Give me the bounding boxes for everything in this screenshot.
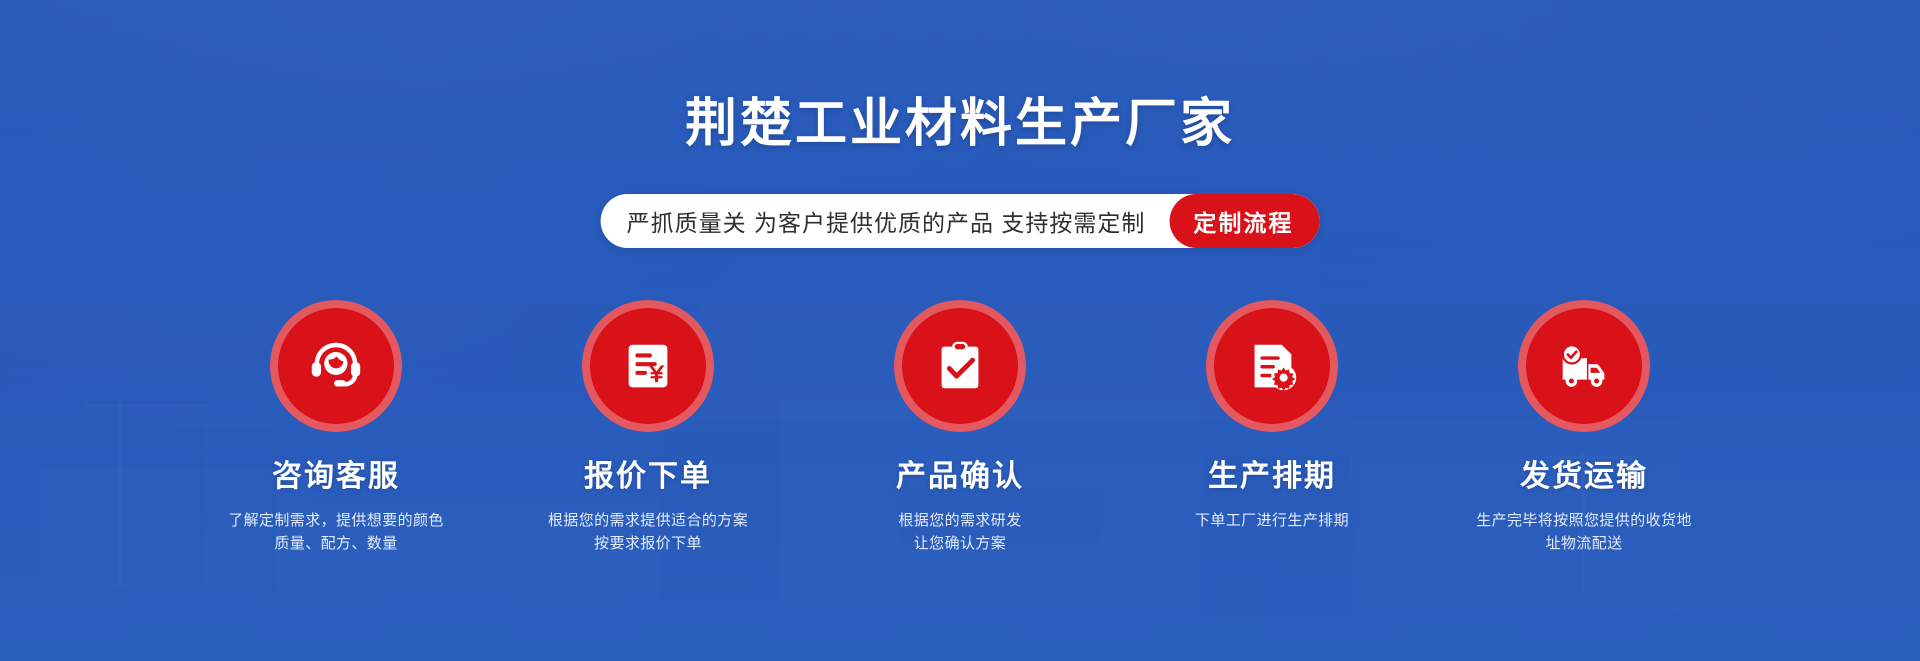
step-title-5: 发货运输 <box>1520 460 1648 495</box>
step-title-2: 报价下单 <box>584 460 712 495</box>
step-icon-badge-3[interactable] <box>894 300 1026 432</box>
step-icon-badge-4[interactable] <box>1206 300 1338 432</box>
step-desc-5: 生产完毕将按照您提供的收货地 址物流配送 <box>1476 509 1692 556</box>
delivery-truck-check-icon <box>1553 335 1615 397</box>
process-steps: 咨询客服 了解定制需求，提供想要的颜色 质量、配方、数量 <box>0 300 1920 555</box>
page-title: 荆楚工业材料生产厂家 <box>0 96 1920 153</box>
invoice-yuan-icon <box>617 335 679 397</box>
step-desc-3: 根据您的需求研发 让您确认方案 <box>898 509 1021 556</box>
step-desc-line-1: 了解定制需求，提供想要的颜色 <box>228 509 444 532</box>
step-desc-4: 下单工厂进行生产排期 <box>1195 509 1349 532</box>
process-step-2[interactable]: 报价下单 根据您的需求提供适合的方案 按要求报价下单 <box>518 300 778 555</box>
tagline-text: 严抓质量关 为客户提供优质的产品 支持按需定制 <box>627 204 1170 238</box>
process-step-1[interactable]: 咨询客服 了解定制需求，提供想要的颜色 质量、配方、数量 <box>206 300 466 555</box>
process-step-4[interactable]: 生产排期 下单工厂进行生产排期 <box>1142 300 1402 532</box>
tagline-bar: 严抓质量关 为客户提供优质的产品 支持按需定制 定制流程 <box>601 194 1320 248</box>
step-desc-line-1: 生产完毕将按照您提供的收货地 <box>1476 509 1692 532</box>
document-gear-icon <box>1241 335 1303 397</box>
step-icon-badge-1[interactable] <box>270 300 402 432</box>
step-icon-badge-5[interactable] <box>1518 300 1650 432</box>
step-desc-line-1: 下单工厂进行生产排期 <box>1195 509 1349 532</box>
process-step-3[interactable]: 产品确认 根据您的需求研发 让您确认方案 <box>830 300 1090 555</box>
check-badge-sub-icon <box>1562 344 1582 364</box>
step-icon-badge-2[interactable] <box>582 300 714 432</box>
promo-banner: 荆楚工业材料生产厂家 严抓质量关 为客户提供优质的产品 支持按需定制 定制流程 <box>0 0 1920 661</box>
process-step-5[interactable]: 发货运输 生产完毕将按照您提供的收货地 址物流配送 <box>1454 300 1714 555</box>
step-desc-line-2: 按要求报价下单 <box>548 532 748 555</box>
step-desc-line-1: 根据您的需求研发 <box>898 509 1021 532</box>
step-title-3: 产品确认 <box>896 460 1024 495</box>
step-desc-line-1: 根据您的需求提供适合的方案 <box>548 509 748 532</box>
step-desc-2: 根据您的需求提供适合的方案 按要求报价下单 <box>548 509 748 556</box>
step-desc-line-2: 址物流配送 <box>1476 532 1692 555</box>
step-desc-1: 了解定制需求，提供想要的颜色 质量、配方、数量 <box>228 509 444 556</box>
clipboard-check-icon <box>929 335 991 397</box>
step-title-4: 生产排期 <box>1208 460 1336 495</box>
headset-support-icon <box>305 335 367 397</box>
step-title-1: 咨询客服 <box>272 460 400 495</box>
custom-process-button[interactable]: 定制流程 <box>1169 194 1319 248</box>
step-desc-line-2: 让您确认方案 <box>898 532 1021 555</box>
step-desc-line-2: 质量、配方、数量 <box>228 532 444 555</box>
banner-content: 荆楚工业材料生产厂家 严抓质量关 为客户提供优质的产品 支持按需定制 定制流程 <box>0 0 1920 661</box>
